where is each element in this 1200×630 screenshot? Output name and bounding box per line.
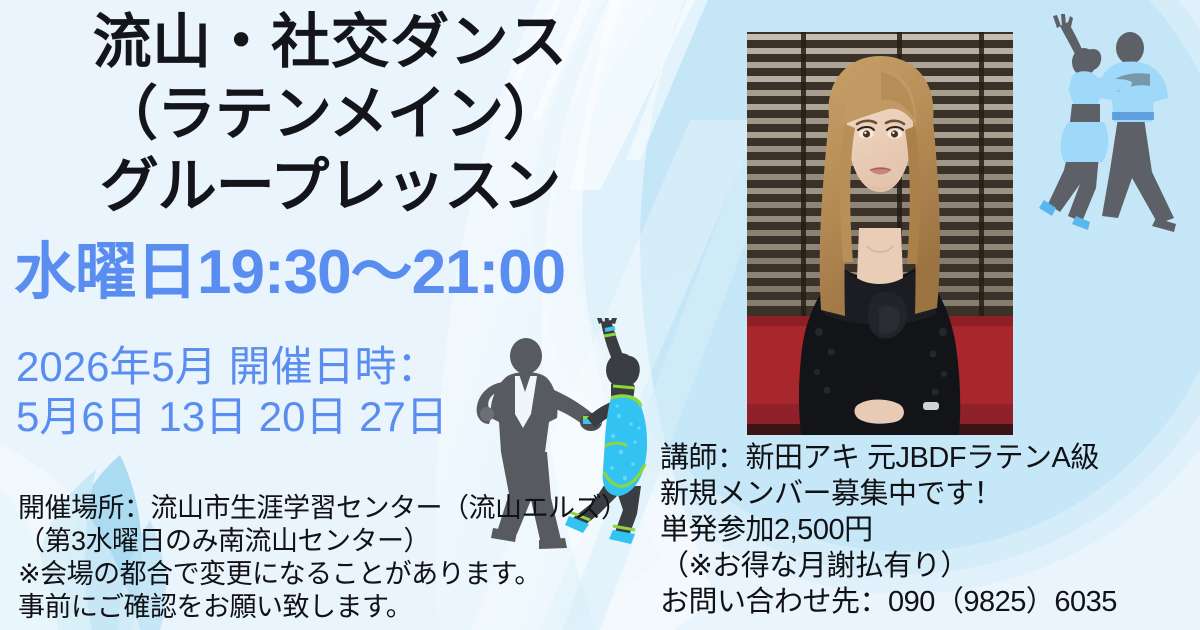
dancer-couple-topright-svg [1026, 12, 1198, 238]
instructor-info-block: 講師：新田アキ 元JBDFラテンA級 新規メンバー募集中です！ 単発参加2,50… [660, 440, 1117, 620]
venue-line-4: 事前にご確認をお願い致します。 [18, 591, 628, 624]
price-line: 単発参加2,500円 [660, 512, 1117, 548]
schedule-dates-block: 2026年5月 開催日時： 5月6日 13日 20日 27日 [16, 342, 448, 442]
recruiting-line: 新規メンバー募集中です！ [660, 476, 1117, 512]
instructor-photo [747, 32, 1013, 435]
headline-line-1: 流山・社交ダンス [0, 6, 660, 78]
venue-info-block: 開催場所：流山市生涯学習センター（流山エルズ） （第3水曜日のみ南流山センター）… [18, 492, 628, 624]
monthly-fee-note: （※お得な月謝払有り） [660, 548, 1117, 584]
schedule-month-label: 2026年5月 開催日時： [16, 342, 448, 392]
dancer-couple-topright-icon [1026, 12, 1198, 238]
headline-block: 流山・社交ダンス （ラテンメイン） グループレッスン [0, 6, 660, 222]
headline-line-2: （ラテンメイン） [0, 78, 660, 150]
instructor-photo-svg [747, 32, 1013, 435]
class-time: 水曜日19:30〜21:00 [14, 238, 565, 308]
flyer-canvas: 流山・社交ダンス （ラテンメイン） グループレッスン 水曜日19:30〜21:0… [0, 0, 1200, 630]
schedule-day-list: 5月6日 13日 20日 27日 [16, 392, 448, 442]
headline-line-3: グループレッスン [0, 150, 660, 222]
venue-line-1: 開催場所：流山市生涯学習センター（流山エルズ） [18, 492, 628, 525]
venue-line-2: （第3水曜日のみ南流山センター） [18, 525, 628, 558]
venue-line-3: ※会場の都合で変更になることがあります。 [18, 558, 628, 591]
instructor-name-line: 講師：新田アキ 元JBDFラテンA級 [660, 440, 1117, 476]
contact-phone-line: お問い合わせ先：090（9825）6035 [660, 584, 1117, 620]
